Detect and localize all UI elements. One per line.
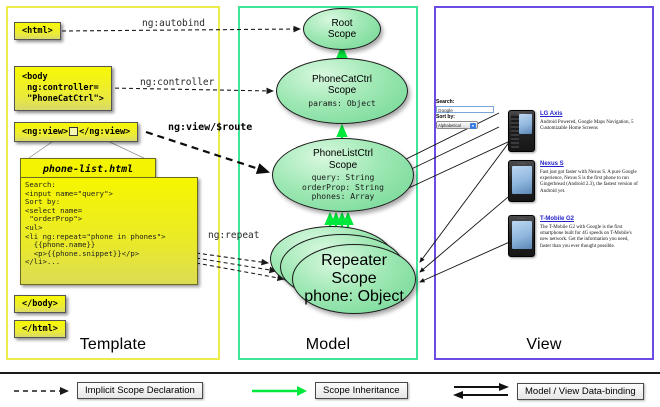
list-item[interactable]: T-Mobile G2 The T-Mobile G2 with Google …	[508, 215, 640, 257]
sort-label: Sort by:	[436, 114, 498, 121]
scope-phonecatctrl-title-1: PhoneCatCtrl	[312, 74, 372, 86]
body-open-tag: <body ng:controller= "PhoneCatCtrl">	[14, 66, 112, 111]
scope-repeater-title-1: Repeater	[321, 252, 387, 270]
phone-snippet: Android Powered, Google Maps Navigation,…	[540, 120, 640, 132]
scope-phonelistctrl: PhoneListCtrl Scope query: String orderP…	[272, 138, 414, 212]
chevron-down-icon: ▾	[470, 123, 476, 129]
html-close-tag: </html>	[14, 320, 66, 338]
phone-snippet: Fast just got faster with Nexus S. A pur…	[540, 170, 640, 195]
scope-repeater-stack: Repeater Scope phone: Object	[270, 226, 420, 318]
list-item[interactable]: LG Axis Android Powered, Google Maps Nav…	[508, 110, 640, 152]
phone-name[interactable]: T-Mobile G2	[540, 215, 640, 223]
template-file-code: Search: <input name="query"> Sort by: <s…	[20, 177, 198, 285]
scope-phonelistctrl-props: query: String orderProp: String phones: …	[302, 173, 384, 201]
edge-label-view-route: ng:view/$route	[168, 122, 252, 133]
scope-root-title-2: Scope	[328, 29, 356, 41]
legend-label: Scope Inheritance	[315, 382, 408, 399]
legend-label: Model / View Data-binding	[517, 383, 644, 400]
legend-item-scope-inheritance: Scope Inheritance	[250, 382, 408, 399]
search-label: Search:	[436, 99, 498, 106]
section-label-view: View	[436, 336, 652, 354]
list-item[interactable]: Nexus S Fast just got faster with Nexus …	[508, 160, 640, 202]
phone-image	[508, 110, 535, 152]
section-label-model: Model	[240, 336, 416, 354]
scope-repeater: Repeater Scope phone: Object	[292, 244, 416, 314]
scope-phonecatctrl-props: params: Object	[308, 99, 375, 108]
phone-image	[508, 215, 535, 257]
html-open-tag: <html>	[14, 22, 61, 40]
legend: Implicit Scope Declaration Scope Inherit…	[0, 372, 660, 407]
phone-image	[508, 160, 535, 202]
phone-snippet: The T-Mobile G2 with Google is the first…	[540, 225, 640, 250]
phone-name[interactable]: Nexus S	[540, 160, 640, 168]
double-arrow-icon	[452, 382, 510, 400]
scope-phonecatctrl: PhoneCatCtrl Scope params: Object	[276, 58, 408, 124]
scope-phonelistctrl-title-1: PhoneListCtrl	[313, 148, 373, 160]
scope-phonelistctrl-title-2: Scope	[329, 160, 357, 172]
scope-root-title-1: Root	[331, 18, 352, 30]
view-search-form: Search: Google Sort by: Alphabetical▾	[436, 99, 498, 129]
diagram-canvas: Template Model View	[0, 0, 660, 405]
template-file-name: phone-list.html	[20, 158, 156, 179]
legend-label: Implicit Scope Declaration	[77, 382, 203, 399]
ngview-tag: <ng:view></ng:view>	[14, 122, 138, 142]
scope-repeater-title-2: Scope	[331, 270, 376, 288]
legend-item-data-binding: Model / View Data-binding	[452, 382, 644, 400]
scope-repeater-props: phone: Object	[304, 288, 404, 306]
ngview-close: </ng:view>	[79, 127, 130, 137]
placeholder-square-icon	[69, 127, 78, 136]
sort-select-value: Alphabetical	[438, 123, 461, 128]
body-close-tag: </body>	[14, 295, 66, 313]
dashed-arrow-icon	[12, 385, 70, 397]
section-label-template: Template	[8, 336, 218, 354]
ngview-open: <ng:view>	[22, 127, 68, 137]
scope-phonecatctrl-title-2: Scope	[328, 85, 356, 97]
legend-item-implicit-scope: Implicit Scope Declaration	[12, 382, 203, 399]
template-file-callout: phone-list.html Search: <input name="que…	[20, 158, 198, 288]
scope-root: Root Scope	[303, 8, 381, 50]
edge-label-autobind: ng:autobind	[142, 18, 205, 29]
edge-label-controller: ng:controller	[140, 77, 214, 88]
sort-select[interactable]: Alphabetical▾	[436, 121, 478, 129]
phone-name[interactable]: LG Axis	[540, 110, 640, 118]
search-input[interactable]: Google	[436, 106, 494, 113]
edge-label-repeat: ng:repeat	[208, 230, 259, 241]
green-arrow-icon	[250, 385, 308, 397]
